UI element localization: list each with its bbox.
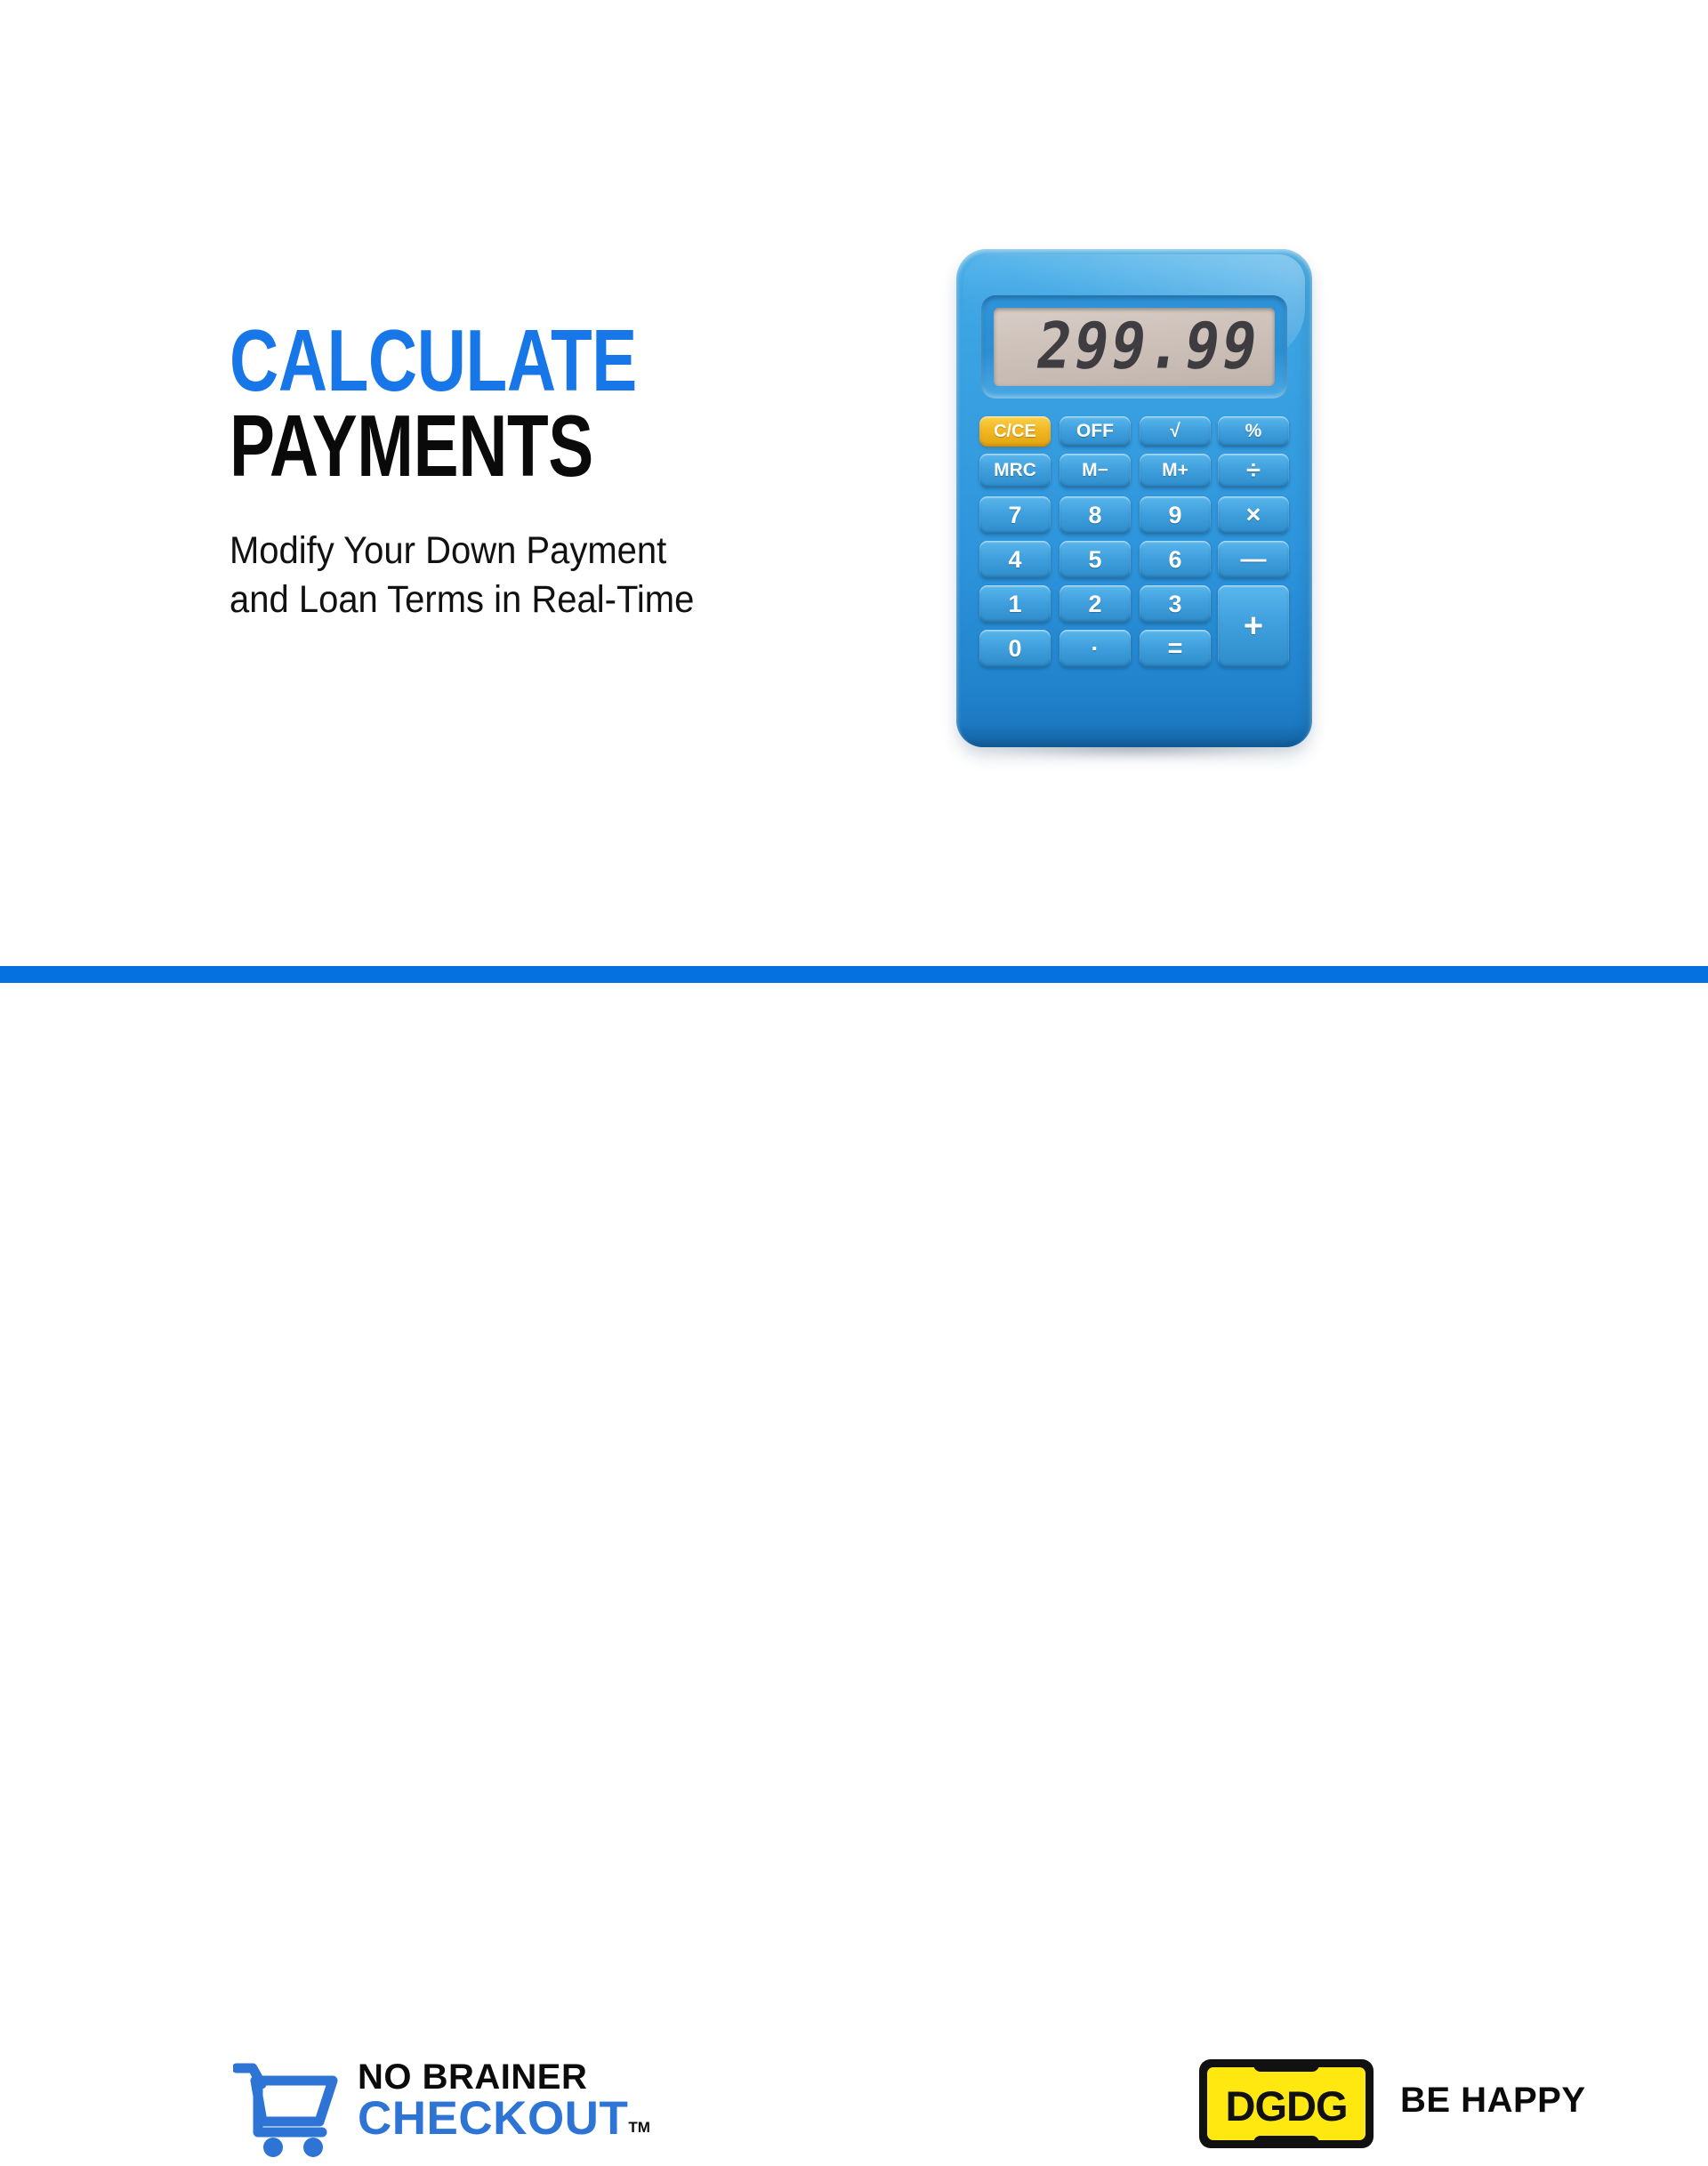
key-m-minus-label: M− — [1082, 460, 1108, 481]
key-equals[interactable]: = — [1140, 630, 1211, 667]
key-clear-label: C/CE — [994, 422, 1036, 442]
key-mrc[interactable]: MRC — [979, 454, 1051, 487]
key-5[interactable]: 5 — [1059, 541, 1131, 578]
key-8-label: 8 — [1088, 502, 1101, 529]
calculator-lcd-screen: 299.99 — [994, 308, 1275, 386]
key-percent[interactable]: % — [1218, 416, 1289, 447]
shopping-cart-icon — [233, 2063, 338, 2159]
trademark-symbol: TM — [628, 2119, 650, 2137]
hero-section: CALCULATE PAYMENTS Modify Your Down Paym… — [0, 0, 1708, 966]
key-multiply[interactable]: × — [1218, 496, 1289, 534]
key-3[interactable]: 3 — [1140, 585, 1211, 623]
key-sqrt[interactable]: √ — [1140, 416, 1211, 447]
key-m-plus[interactable]: M+ — [1140, 454, 1211, 487]
key-m-plus-label: M+ — [1162, 460, 1188, 481]
key-equals-label: = — [1168, 634, 1183, 664]
key-decimal[interactable]: · — [1059, 630, 1131, 667]
key-9-label: 9 — [1168, 502, 1181, 529]
key-divide-label: ÷ — [1246, 456, 1261, 486]
key-7[interactable]: 7 — [979, 496, 1051, 534]
key-2-label: 2 — [1088, 591, 1101, 618]
key-6-label: 6 — [1168, 546, 1181, 574]
calculator-base-edge — [960, 724, 1309, 747]
key-0[interactable]: 0 — [979, 630, 1051, 667]
key-plus[interactable]: + — [1218, 585, 1289, 667]
key-mrc-label: MRC — [994, 460, 1036, 481]
key-4[interactable]: 4 — [979, 541, 1051, 578]
key-4-label: 4 — [1008, 546, 1021, 574]
key-divide[interactable]: ÷ — [1218, 454, 1289, 487]
key-6[interactable]: 6 — [1140, 541, 1211, 578]
dgdg-logo[interactable]: DGDG BE HAPPY — [1199, 2057, 1617, 2160]
dgdg-badge: DGDG — [1199, 2059, 1374, 2148]
key-m-minus[interactable]: M− — [1059, 454, 1131, 487]
key-minus[interactable]: — — [1218, 541, 1289, 578]
calculator-keypad[interactable]: C/CEOFF√%MRCM−M+÷789×456—123+0·= — [979, 416, 1289, 722]
key-percent-label: % — [1245, 421, 1262, 442]
key-off[interactable]: OFF — [1059, 416, 1131, 447]
logo-line-checkout-row: CHECKOUTTM — [358, 2122, 628, 2138]
hero-copy-block: CALCULATE PAYMENTS Modify Your Down Paym… — [230, 320, 799, 624]
dgdg-tagline: BE HAPPY — [1400, 2081, 1586, 2121]
calculator-display-recess: 299.99 — [981, 295, 1287, 399]
headline-line-2: PAYMENTS — [230, 406, 673, 486]
footer-section: NO BRAINER CHECKOUTTM DGDG BE HAPPY — [0, 983, 1708, 1281]
key-5-label: 5 — [1088, 546, 1101, 574]
no-brainer-checkout-wordmark: NO BRAINER CHECKOUTTM — [358, 2059, 696, 2142]
key-decimal-label: · — [1092, 635, 1100, 663]
key-7-label: 7 — [1008, 502, 1021, 529]
key-1[interactable]: 1 — [979, 585, 1051, 623]
key-2[interactable]: 2 — [1059, 585, 1131, 623]
no-brainer-checkout-logo[interactable]: NO BRAINER CHECKOUTTM — [233, 2059, 696, 2166]
key-multiply-label: × — [1246, 501, 1261, 530]
key-sqrt-label: √ — [1170, 421, 1180, 442]
logo-line-checkout: CHECKOUT — [358, 2095, 628, 2142]
key-1-label: 1 — [1008, 591, 1021, 618]
logo-line-no-brainer: NO BRAINER — [358, 2057, 587, 2097]
calculator-display-value: 299.99 — [1032, 315, 1275, 379]
calculator-body: 299.99 C/CEOFF√%MRCM−M+÷789×456—123+0·= — [956, 249, 1312, 747]
key-9[interactable]: 9 — [1140, 496, 1211, 534]
key-off-label: OFF — [1076, 421, 1114, 442]
key-0-label: 0 — [1008, 635, 1021, 663]
key-8[interactable]: 8 — [1059, 496, 1131, 534]
key-minus-label: — — [1241, 545, 1267, 575]
section-divider-bar — [0, 966, 1708, 983]
calculator-illustration: 299.99 C/CEOFF√%MRCM−M+÷789×456—123+0·= — [956, 249, 1312, 765]
hero-subheadline: Modify Your Down Payment and Loan Terms … — [230, 527, 759, 624]
key-plus-label: + — [1244, 608, 1263, 646]
headline-line-1: CALCULATE — [230, 320, 673, 400]
dgdg-badge-text: DGDG — [1199, 2059, 1374, 2148]
key-clear[interactable]: C/CE — [979, 416, 1051, 447]
key-3-label: 3 — [1168, 591, 1181, 618]
